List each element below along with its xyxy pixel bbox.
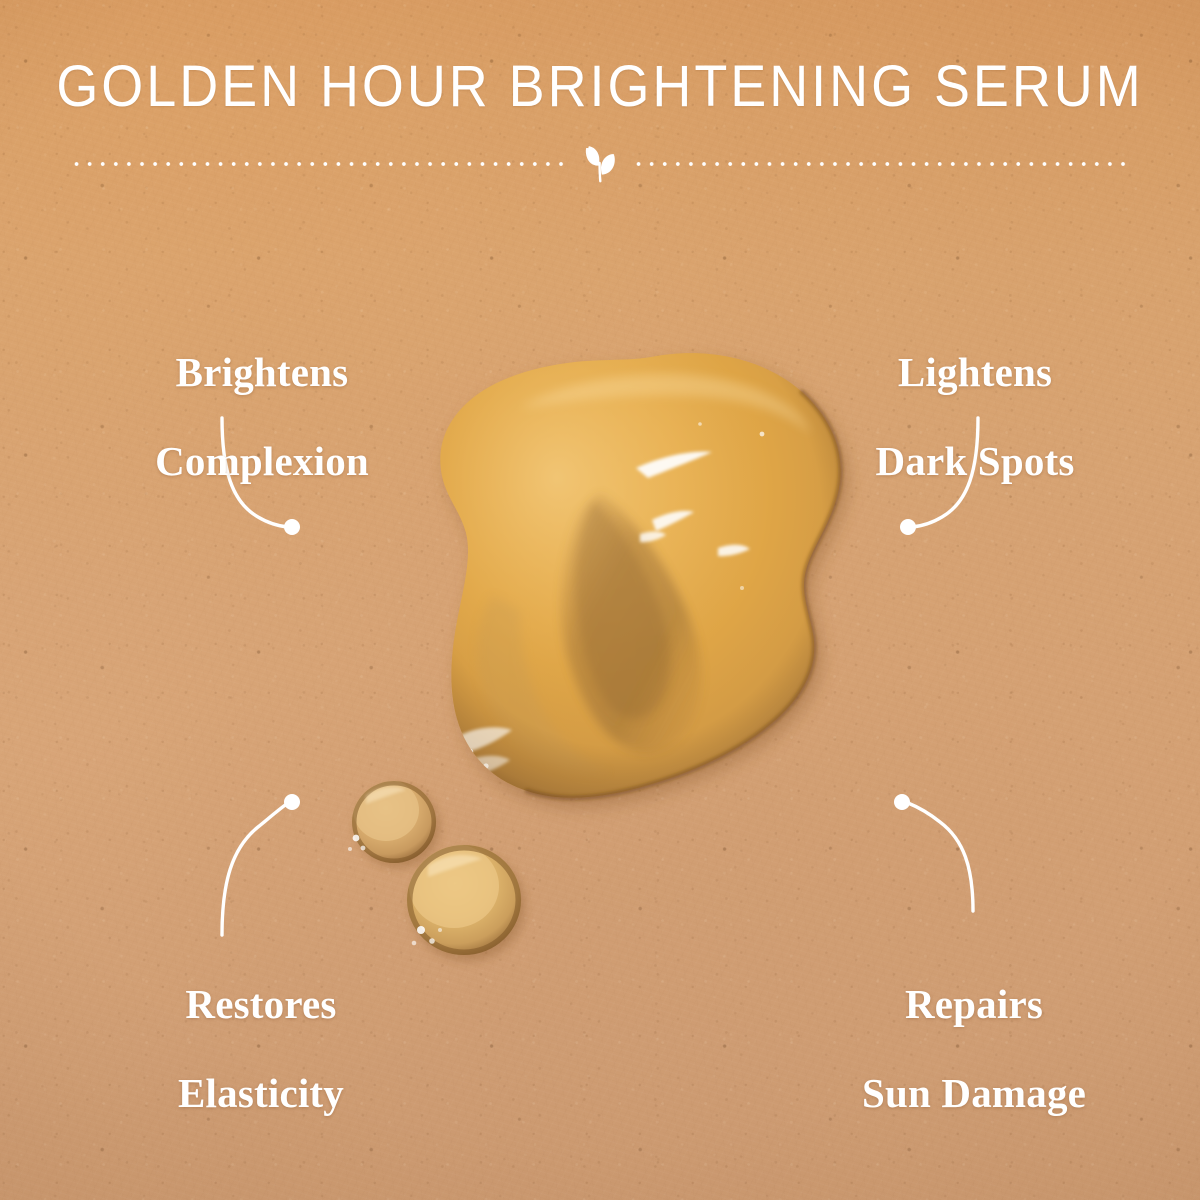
callout-line-1: Brightens	[112, 350, 412, 394]
page-title: GOLDEN HOUR BRIGHTENING SERUM	[42, 58, 1158, 116]
callout-line-1: Lightens	[840, 350, 1110, 394]
callout-line-2: Dark Spots	[840, 439, 1110, 483]
callout-line-1: Restores	[128, 982, 394, 1026]
callout-brightens-complexion: Brightens Complexion	[112, 306, 412, 527]
poster-canvas: GOLDEN HOUR BRIGHTENING SERUM	[0, 0, 1200, 1200]
callout-restores-elasticity: Restores Elasticity	[128, 938, 394, 1159]
divider-dots-right	[632, 162, 1130, 166]
divider-dots-left	[70, 162, 568, 166]
callout-line-1: Repairs	[824, 982, 1124, 1026]
callout-line-2: Complexion	[112, 439, 412, 483]
callout-line-2: Sun Damage	[824, 1071, 1124, 1115]
divider	[0, 142, 1200, 186]
callout-line-2: Elasticity	[128, 1071, 394, 1115]
callout-lightens-dark-spots: Lightens Dark Spots	[840, 306, 1110, 527]
leaf-sprout-icon	[580, 141, 620, 187]
callout-repairs-sun-damage: Repairs Sun Damage	[824, 938, 1124, 1159]
